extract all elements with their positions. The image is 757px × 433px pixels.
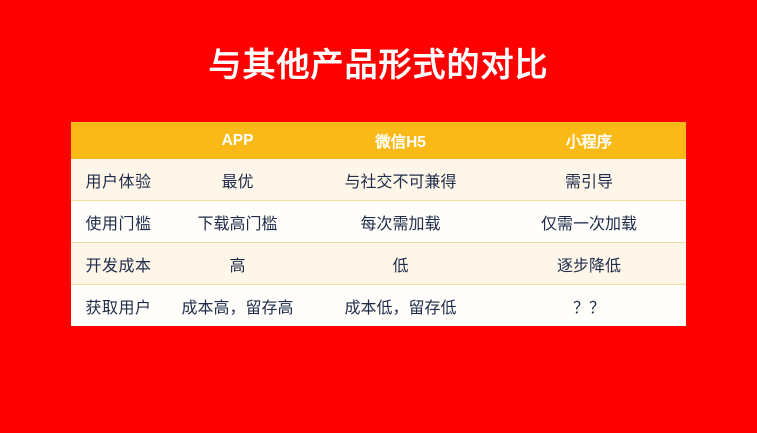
table-row: 使用门槛 下载高门槛 每次需加载 仅需一次加载 — [71, 201, 686, 243]
table-body: 用户体验 最优 与社交不可兼得 需引导 使用门槛 下载高门槛 每次需加载 仅需一… — [71, 159, 686, 326]
cell-app-user-acquisition: 成本高，留存高 — [166, 285, 309, 327]
cell-h5-development-cost: 低 — [309, 243, 492, 285]
column-header-app: APP — [166, 122, 309, 159]
cell-h5-usage-threshold: 每次需加载 — [309, 201, 492, 243]
row-label-user-experience: 用户体验 — [71, 159, 166, 201]
cell-mini-development-cost: 逐步降低 — [492, 243, 686, 285]
cell-app-user-experience: 最优 — [166, 159, 309, 201]
cell-app-usage-threshold: 下载高门槛 — [166, 201, 309, 243]
cell-app-development-cost: 高 — [166, 243, 309, 285]
row-label-development-cost: 开发成本 — [71, 243, 166, 285]
row-label-usage-threshold: 使用门槛 — [71, 201, 166, 243]
cell-mini-usage-threshold: 仅需一次加载 — [492, 201, 686, 243]
table-header-row: APP 微信H5 小程序 — [71, 122, 686, 159]
row-label-user-acquisition: 获取用户 — [71, 285, 166, 327]
slide-canvas: 与其他产品形式的对比 APP 微信H5 小程序 用户体验 最优 与社交不可兼得 … — [0, 0, 757, 433]
column-header-h5: 微信H5 — [309, 122, 492, 159]
cell-h5-user-acquisition: 成本低，留存低 — [309, 285, 492, 327]
cell-h5-user-experience: 与社交不可兼得 — [309, 159, 492, 201]
table-row: 开发成本 高 低 逐步降低 — [71, 243, 686, 285]
page-title: 与其他产品形式的对比 — [0, 44, 757, 86]
comparison-table: APP 微信H5 小程序 用户体验 最优 与社交不可兼得 需引导 使用门槛 下载… — [71, 122, 686, 326]
cell-mini-user-experience: 需引导 — [492, 159, 686, 201]
cell-mini-user-acquisition: ？？ — [492, 285, 686, 327]
column-header-label — [71, 122, 166, 159]
column-header-mini: 小程序 — [492, 122, 686, 159]
table-row: 获取用户 成本高，留存高 成本低，留存低 ？？ — [71, 285, 686, 327]
table-header: APP 微信H5 小程序 — [71, 122, 686, 159]
table-row: 用户体验 最优 与社交不可兼得 需引导 — [71, 159, 686, 201]
